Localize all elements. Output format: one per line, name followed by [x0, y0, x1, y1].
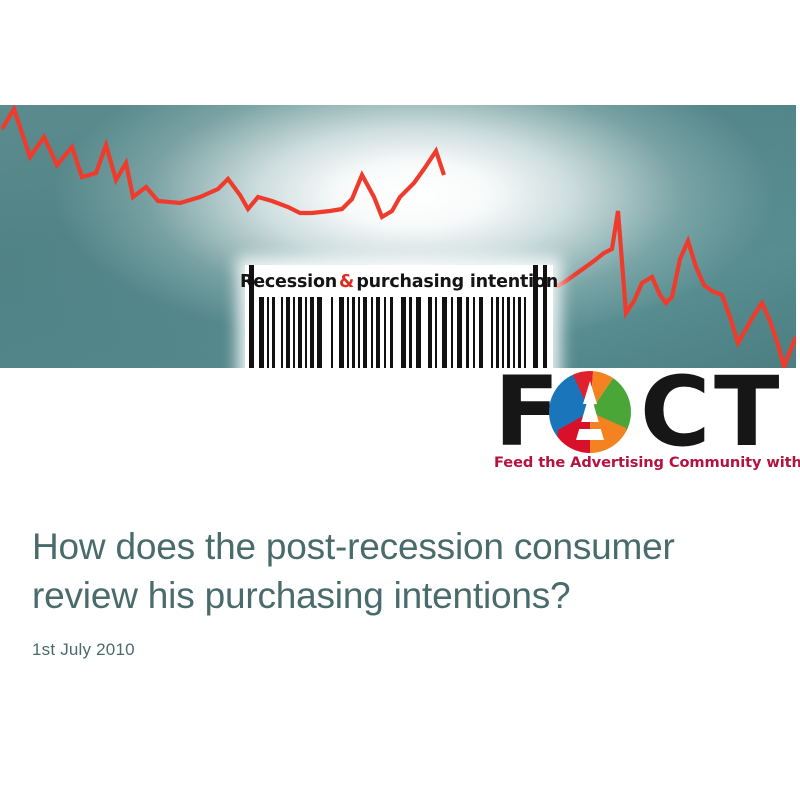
fact-logo: F	[492, 368, 788, 480]
trend-line-left	[2, 109, 444, 217]
fact-letter-c: C	[640, 364, 707, 460]
fact-tagline: Feed the Advertising Community with Tren…	[494, 454, 788, 471]
title-group: How does the post-recession consumer rev…	[32, 522, 772, 660]
barcode-title: Recession & purchasing intention	[245, 265, 553, 298]
barcode-title-ampersand: &	[337, 272, 356, 292]
trend-line-right	[556, 211, 796, 367]
hero-banner: Recession & purchasing intention	[0, 105, 796, 368]
fact-letter-t: T	[714, 364, 776, 460]
slide-date: 1st July 2010	[32, 620, 772, 660]
barcode-graphic: Recession & purchasing intention	[245, 265, 553, 368]
barcode-title-part1: Recession	[240, 272, 337, 292]
page-title: How does the post-recession consumer rev…	[32, 522, 772, 620]
fact-letter-a-circle-icon	[548, 370, 632, 454]
barcode-title-part2: purchasing intention	[356, 272, 558, 292]
fact-wordmark: F	[492, 368, 788, 456]
